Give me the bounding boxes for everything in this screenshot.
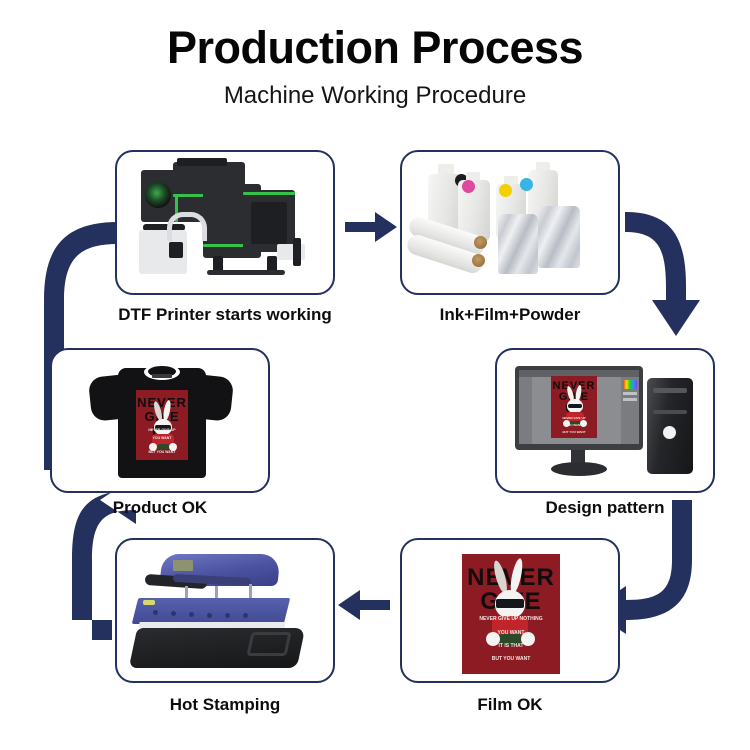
ink-cap-magenta [462, 180, 475, 193]
production-process-infographic: Production Process Machine Working Proce… [0, 0, 750, 750]
step-card-design[interactable]: NEVER GIVE UP NEVER GIVE UP YOU WANT BUT… [495, 348, 715, 493]
step-card-supplies[interactable] [400, 150, 620, 295]
step-card-press[interactable] [115, 538, 335, 683]
heat-press-illustration [117, 540, 333, 681]
artwork-sub4: BUT YOU WANT [462, 656, 560, 662]
step-card-printer[interactable] [115, 150, 335, 295]
step-card-film[interactable]: NEVER GIVE UP NEVER GIVE UP NOTHING [400, 538, 620, 683]
powder-bag [538, 206, 580, 268]
step-label-supplies: Ink+Film+Powder [390, 305, 630, 325]
step-label-product: Product OK [40, 498, 280, 518]
tshirt-illustration: NEVER GIVE UP NEVER GIVE UP YOU WANT BUT… [52, 350, 268, 491]
page-title: Production Process [0, 22, 750, 74]
design-computer-illustration: NEVER GIVE UP NEVER GIVE UP YOU WANT BUT… [497, 350, 713, 491]
artwork-sub3: IT IS THAT [462, 643, 560, 649]
dtf-printer-illustration [117, 152, 333, 293]
step-card-product[interactable]: NEVER GIVE UP NEVER GIVE UP YOU WANT BUT… [50, 348, 270, 493]
powder-bag [498, 214, 538, 274]
step-label-press: Hot Stamping [105, 695, 345, 715]
step-label-printer: DTF Printer starts working [55, 305, 395, 325]
page-subtitle: Machine Working Procedure [0, 82, 750, 110]
artwork-sub1: NEVER GIVE UP NOTHING [462, 616, 560, 622]
film-artwork: NEVER GIVE UP NEVER GIVE UP NOTHING [462, 554, 560, 674]
arrow-printer-to-supplies [345, 212, 397, 242]
printed-film-illustration: NEVER GIVE UP NEVER GIVE UP NOTHING [402, 540, 618, 681]
ink-cap-yellow [499, 184, 512, 197]
design-canvas-artwork: NEVER GIVE UP NEVER GIVE UP YOU WANT BUT… [551, 376, 597, 438]
ink-film-powder-illustration [402, 152, 618, 293]
artwork-sub2: YOU WANT [462, 630, 560, 636]
tshirt-print-artwork: NEVER GIVE UP NEVER GIVE UP YOU WANT BUT… [136, 390, 188, 460]
step-label-design: Design pattern [485, 498, 725, 518]
arrow-film-to-press [338, 590, 390, 620]
step-label-film: Film OK [390, 695, 630, 715]
ink-cap-cyan [520, 178, 533, 191]
arrow-supplies-to-design [625, 212, 700, 336]
